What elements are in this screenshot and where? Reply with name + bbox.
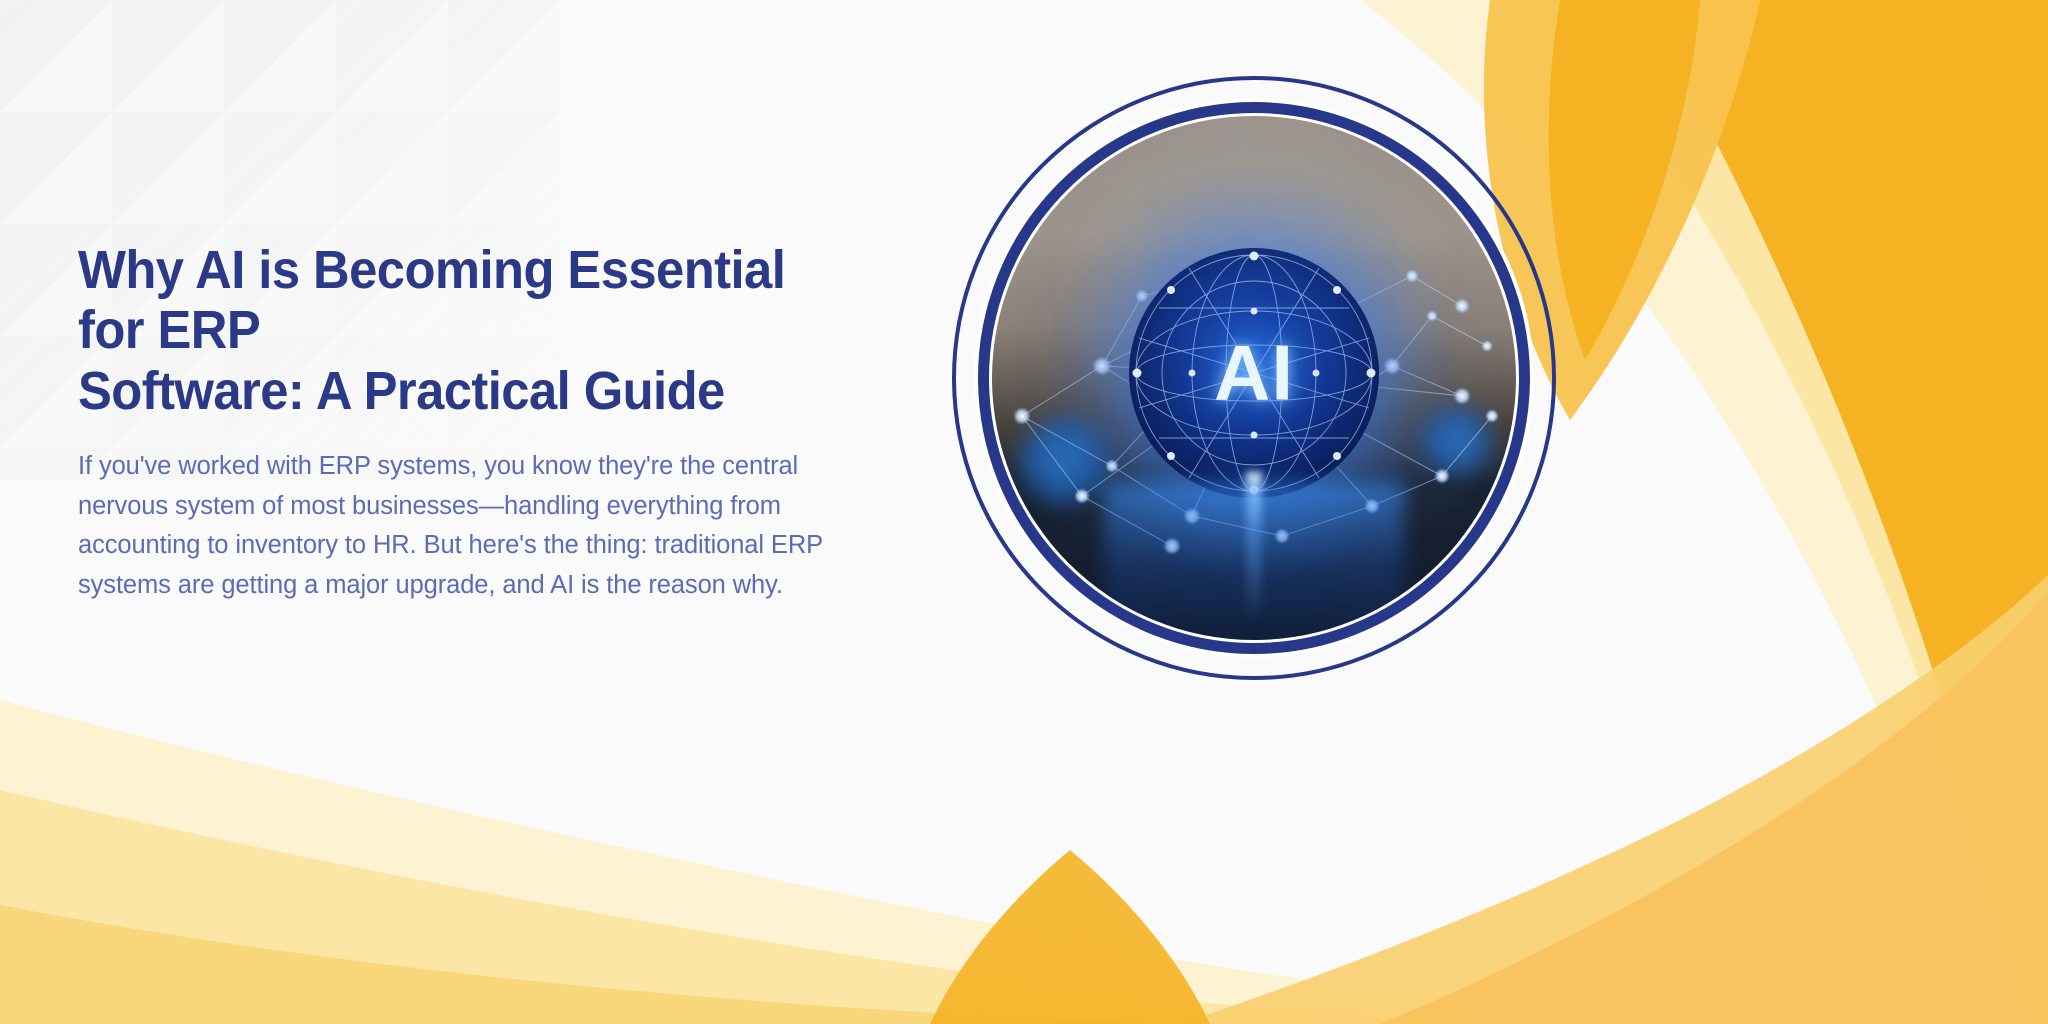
banner-canvas: AI Why AI is Becoming Essential for ERP … xyxy=(0,0,2048,1024)
headline-line-1: Why AI is Becoming Essential for ERP xyxy=(78,240,785,360)
headline-line-2: Software: A Practical Guide xyxy=(78,361,725,421)
water-reflection xyxy=(1104,483,1404,640)
ai-network-sphere-circle: AI xyxy=(952,76,1556,680)
glowing-sphere: AI xyxy=(1129,248,1379,498)
intro-paragraph: If you've worked with ERP systems, you k… xyxy=(78,447,858,605)
ai-badge-label: AI xyxy=(1214,328,1294,419)
copy-block: Why AI is Becoming Essential for ERP Sof… xyxy=(78,240,868,605)
page-title: Why AI is Becoming Essential for ERP Sof… xyxy=(78,240,821,421)
ai-photo: AI xyxy=(992,116,1516,640)
